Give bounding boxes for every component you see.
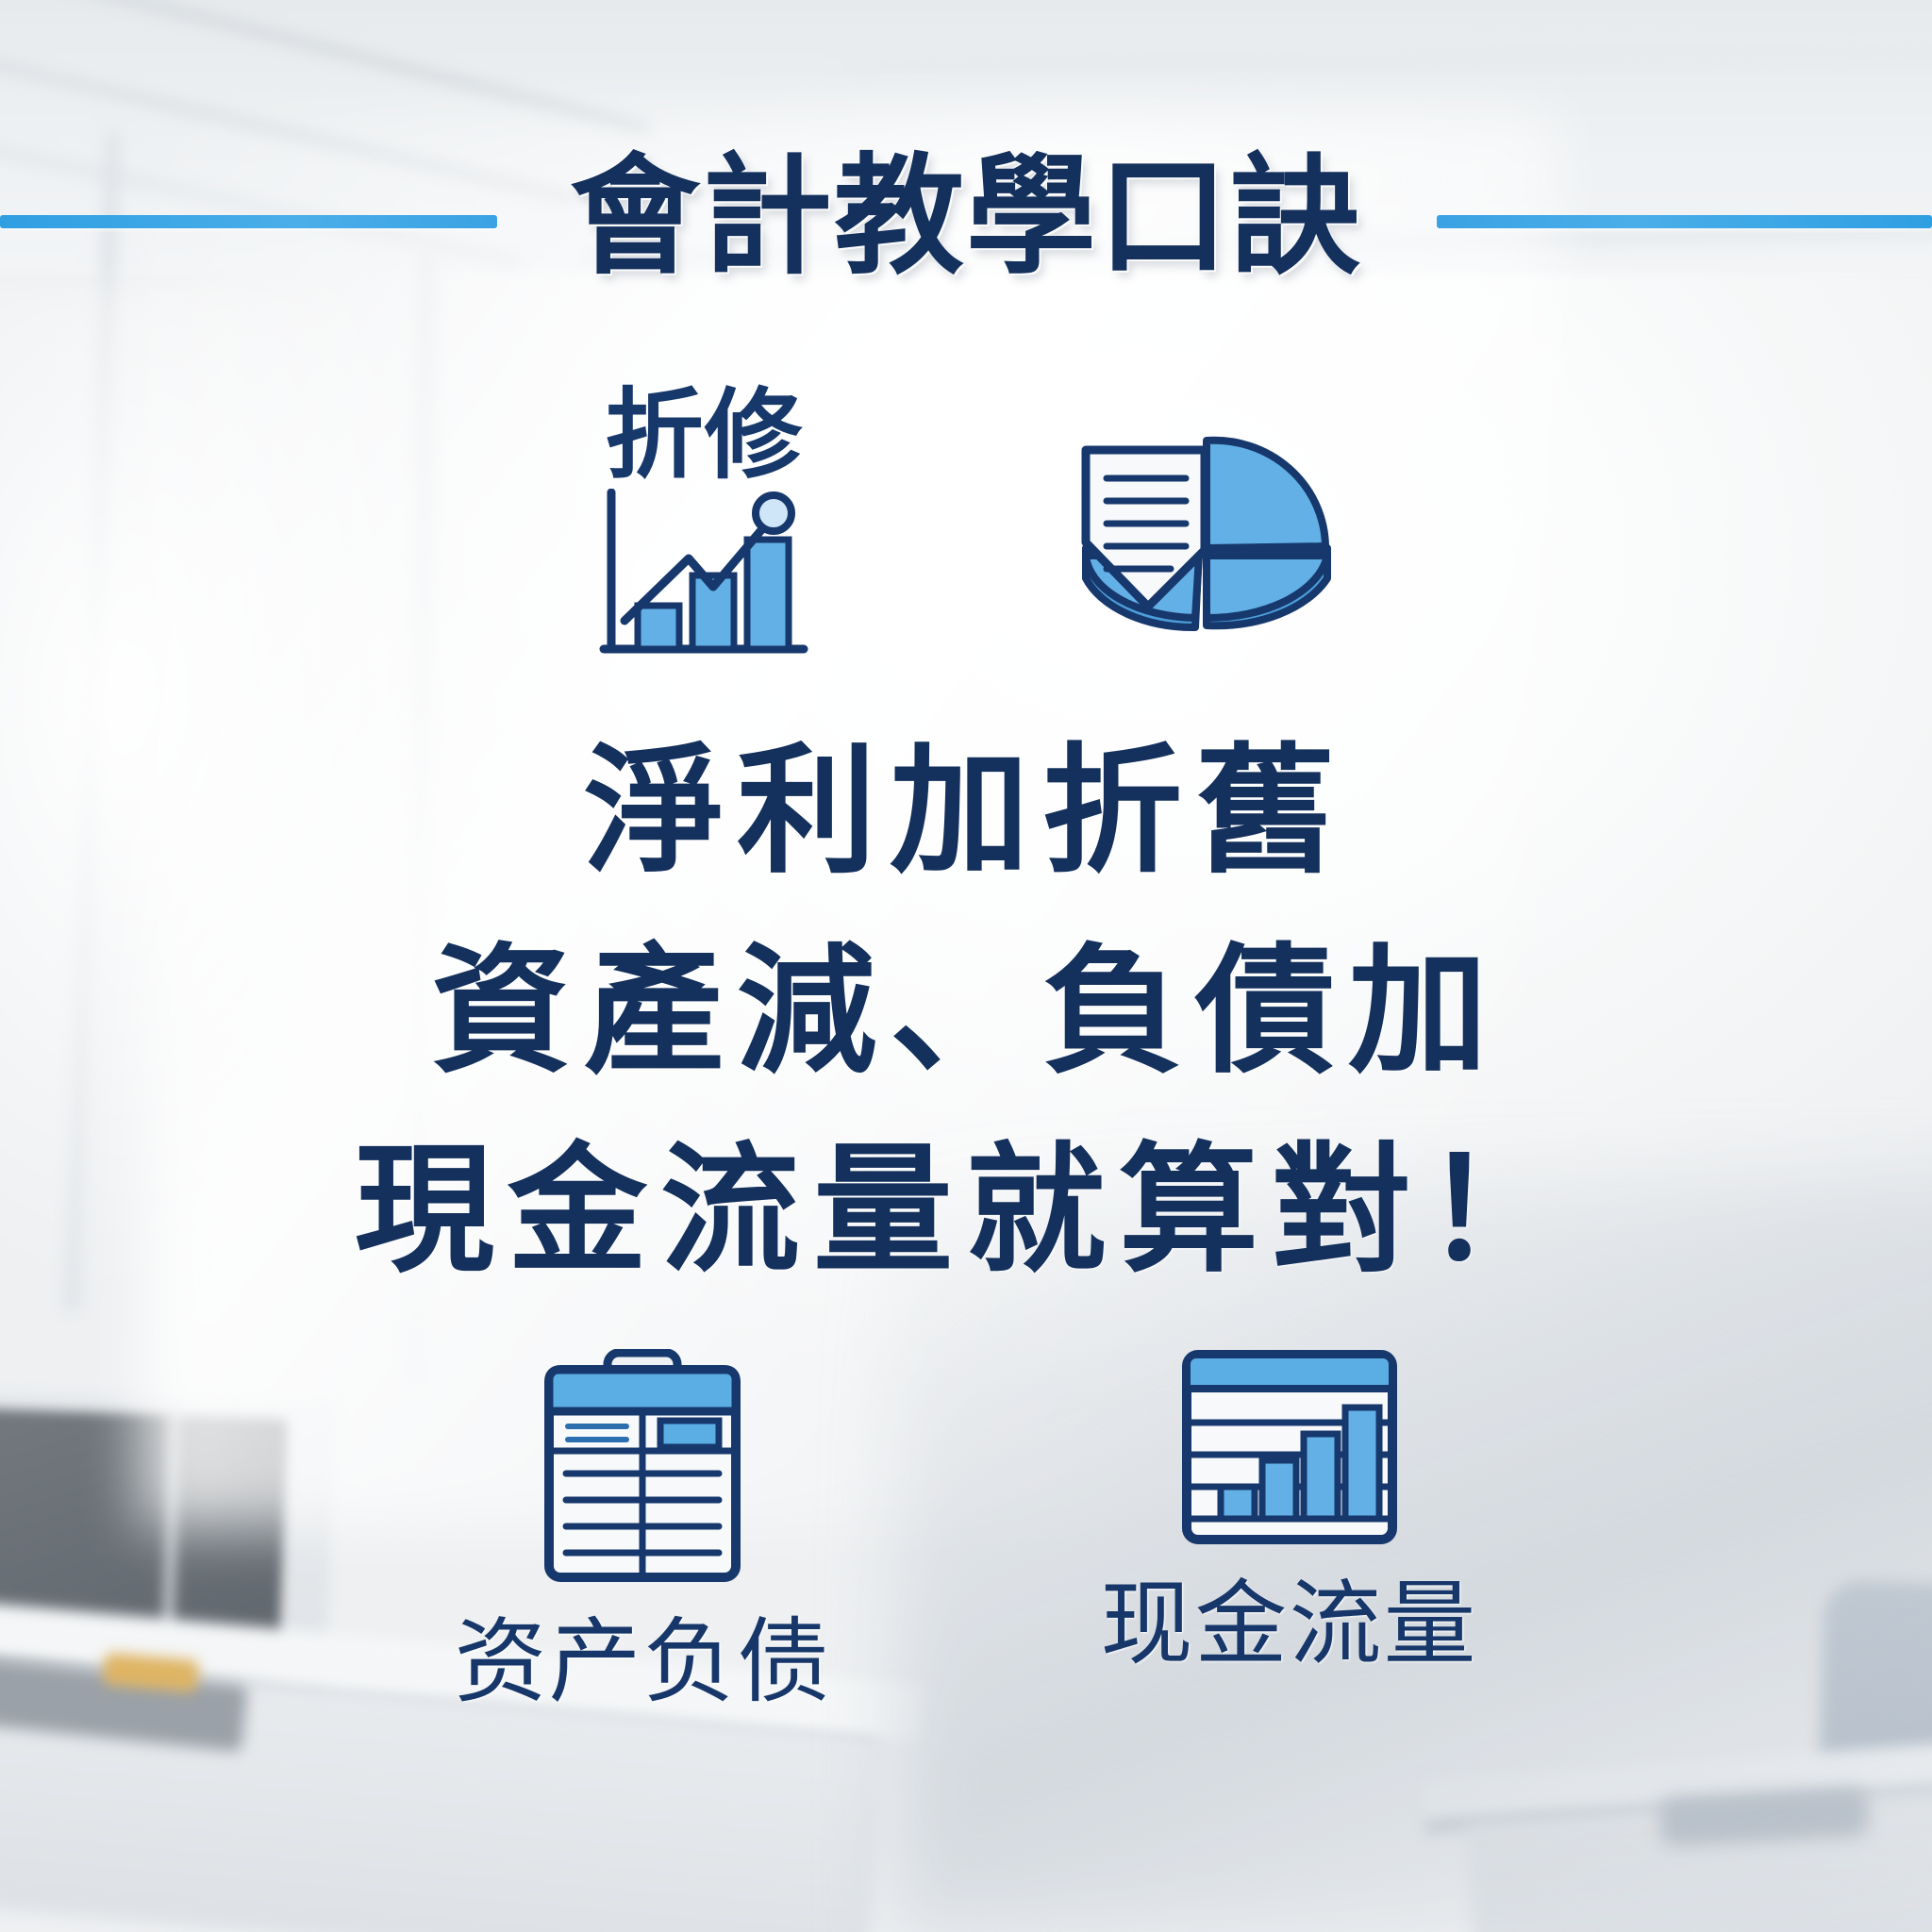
pie-chart-document-icon [1065, 429, 1334, 663]
pie-chart-icon-block [1065, 429, 1334, 663]
balance-sheet-item: 资产负债 [454, 1349, 831, 1707]
balance-sheet-label: 资产负债 [454, 1615, 831, 1707]
clipboard-table-icon [534, 1349, 751, 1583]
mnemonic-line-2: 資產減、負債加 [0, 912, 1932, 1112]
depreciation-icon-block: 折修 [598, 387, 810, 663]
top-icon-row: 折修 [0, 387, 1932, 663]
bar-chart-table-icon [1179, 1349, 1400, 1545]
poster-canvas: 會計教學口訣 折修 [0, 0, 1932, 1932]
page-title: 會計教學口訣 [0, 136, 1932, 299]
mnemonic-line-1: 淨利加折舊 [0, 712, 1932, 912]
cash-flow-label: 现金流量 [1101, 1577, 1478, 1670]
cash-flow-item: 现金流量 [1101, 1349, 1478, 1670]
bottom-icon-row: 资产负债 [0, 1349, 1932, 1707]
mnemonic-line-3: 現金流量就算對！ [0, 1111, 1932, 1311]
depreciation-label: 折修 [605, 387, 803, 485]
bar-line-growth-chart-icon [598, 489, 810, 663]
header: 會計教學口訣 [0, 142, 1932, 307]
mnemonic-block: 淨利加折舊 資產減、負債加 現金流量就算對！ [0, 712, 1932, 1311]
